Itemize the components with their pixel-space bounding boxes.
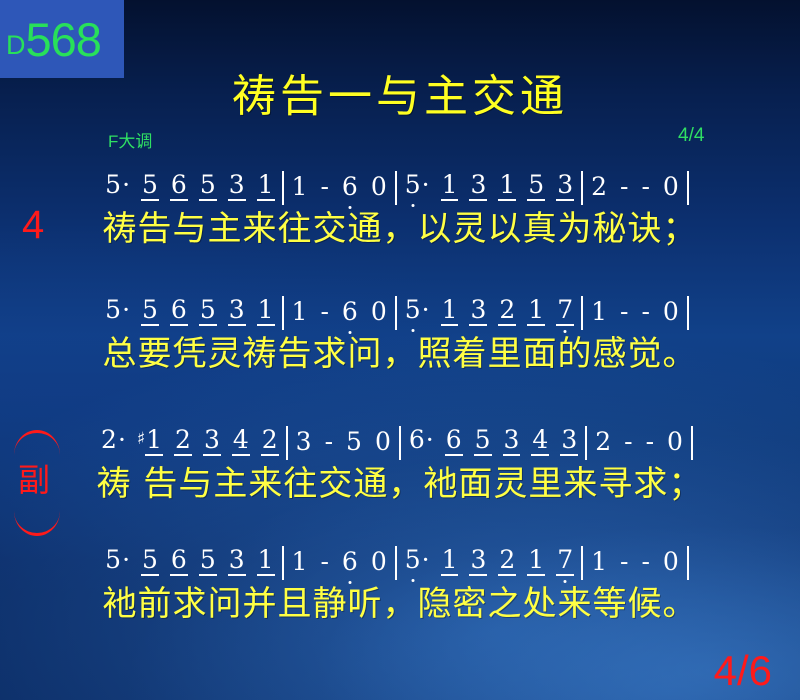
note-glyph: 5	[404, 295, 422, 324]
measure-1: 5·56531	[104, 170, 274, 201]
note-glyph: 3	[228, 545, 246, 576]
note-glyph: 3	[228, 295, 246, 326]
barline	[581, 296, 583, 330]
note: 7	[556, 295, 574, 324]
measure-2: 3-50	[295, 427, 392, 456]
note-glyph: 5	[141, 545, 159, 576]
note-glyph: 0	[370, 547, 388, 576]
barline	[399, 426, 401, 460]
note: 3	[469, 545, 487, 574]
note: 3	[469, 295, 487, 324]
note-glyph: 1	[590, 297, 608, 326]
note-glyph: 6	[408, 425, 426, 454]
note: 1	[441, 170, 459, 199]
note-glyph: 5	[199, 545, 217, 576]
note-glyph: 5	[345, 427, 363, 456]
note: 6	[341, 172, 359, 201]
measure-1: 5·56531	[104, 295, 274, 326]
hymn-code-number: 568	[26, 16, 101, 63]
note-glyph: 1	[527, 545, 545, 576]
note: 2	[594, 427, 612, 456]
note-glyph: 7	[556, 295, 574, 326]
note: 4	[232, 425, 250, 454]
note: 2·	[100, 425, 126, 454]
note: 1	[590, 297, 608, 326]
note: 5	[345, 427, 363, 456]
measure-3: 6·65343	[408, 425, 578, 456]
note-glyph: 6	[170, 295, 188, 326]
note-glyph: 4	[232, 425, 250, 456]
note: 0	[370, 172, 388, 201]
note: 5·	[104, 545, 130, 574]
note: 3	[469, 170, 487, 199]
note-glyph: 2	[594, 427, 612, 456]
note-glyph: 2	[174, 425, 192, 456]
note-glyph: 5	[404, 170, 422, 199]
augmentation-dot: ·	[422, 170, 430, 199]
sharp-accidental-icon: ♯	[137, 429, 145, 449]
lyrics-phrase-left: 祷 告与主来往交通，	[97, 456, 424, 505]
note: 0	[662, 547, 680, 576]
augmentation-dot: ·	[122, 295, 130, 324]
measure-3: 5·13217	[404, 295, 574, 326]
barline	[687, 171, 689, 205]
key-signature-label: F大调	[108, 127, 152, 152]
note-glyph: -	[640, 547, 650, 576]
note-glyph: 2	[100, 425, 118, 454]
note-glyph: 3	[503, 425, 521, 456]
note-glyph: 2	[498, 545, 516, 576]
note: 6	[170, 295, 188, 324]
note: 1	[291, 297, 309, 326]
barline	[282, 171, 284, 205]
note: 3	[228, 295, 246, 324]
note-glyph: 1	[498, 170, 516, 201]
note: 5	[199, 295, 217, 324]
note-glyph: 1	[291, 547, 309, 576]
note-glyph: -	[619, 172, 629, 201]
note: -	[640, 547, 650, 576]
barline	[282, 296, 284, 330]
note-glyph: 3	[560, 425, 578, 456]
note-glyph: 0	[666, 427, 684, 456]
note: -	[324, 427, 334, 456]
note: 5·	[404, 170, 430, 199]
note: -	[619, 172, 629, 201]
note-glyph: 1	[257, 295, 275, 326]
note-glyph: 1	[291, 172, 309, 201]
note-glyph: 3	[228, 170, 246, 201]
note: 1	[441, 295, 459, 324]
note-glyph: 1	[291, 297, 309, 326]
note: 5	[474, 425, 492, 454]
note-glyph: 4	[531, 425, 549, 456]
note-glyph: 6	[170, 170, 188, 201]
verse-number-label: 4	[22, 205, 44, 245]
barline	[687, 546, 689, 580]
note-glyph: 6	[170, 545, 188, 576]
stanza-block-1: 45·565311-605·131532--0祷告与主来往交通，以灵以真为秘诀；	[0, 165, 800, 249]
measure-3: 5·13153	[404, 170, 574, 201]
note: 2	[261, 425, 279, 454]
note: 3	[203, 425, 221, 454]
note-glyph: 5	[141, 295, 159, 326]
measure-4: 1--0	[590, 297, 680, 326]
note-glyph: 0	[374, 427, 392, 456]
note: 4	[531, 425, 549, 454]
measure-1: 5·56531	[104, 545, 274, 576]
note: 0	[370, 547, 388, 576]
lyrics-row: 衪前求问并且静听，隐密之处来等候。	[0, 576, 800, 624]
notation-row: 2·♯123423-506·653432--0	[0, 420, 800, 456]
note: 3	[295, 427, 313, 456]
note: 7	[556, 545, 574, 574]
augmentation-dot: ·	[426, 425, 434, 454]
note-glyph: 5	[104, 545, 122, 574]
note-glyph: 0	[662, 172, 680, 201]
measure-4: 2--0	[594, 427, 684, 456]
note: 3	[228, 170, 246, 199]
note: 6	[445, 425, 463, 454]
chorus-label: 副	[18, 464, 50, 496]
chorus-marker: 副	[12, 428, 66, 536]
note: 0	[662, 297, 680, 326]
stanza-block-3: 副2·♯123423-506·653432--0祷 告与主来往交通，衪面灵里来寻…	[0, 420, 800, 504]
barline	[395, 546, 397, 580]
lyrics-row: 总要凭灵祷告求问，照着里面的感觉。	[0, 326, 800, 374]
note: 5·	[404, 295, 430, 324]
lyrics-row: 祷 告与主来往交通，衪面灵里来寻求；	[0, 456, 800, 504]
note-glyph: -	[640, 172, 650, 201]
note-glyph: 5	[527, 170, 545, 201]
note-glyph: 2	[498, 295, 516, 326]
lyrics-phrase-left: 衪前求问并且静听，	[103, 576, 418, 625]
note: 1	[527, 295, 545, 324]
barline	[395, 171, 397, 205]
note: ♯1	[137, 425, 163, 454]
note-glyph: 5	[104, 170, 122, 199]
note: 2	[498, 545, 516, 574]
note-glyph: 1	[441, 295, 459, 326]
note-glyph: 6	[341, 172, 359, 201]
note: 6	[341, 297, 359, 326]
measure-2: 1-60	[291, 547, 388, 576]
note: 0	[666, 427, 684, 456]
barline	[282, 546, 284, 580]
note: 3	[228, 545, 246, 574]
note-glyph: 1	[527, 295, 545, 326]
note: 0	[370, 297, 388, 326]
note: -	[623, 427, 633, 456]
note: 3	[503, 425, 521, 454]
note: 1	[527, 545, 545, 574]
note: 1	[257, 170, 275, 199]
note-glyph: 1	[590, 547, 608, 576]
lyrics-phrase-right: 隐密之处来等候。	[418, 576, 698, 625]
lyrics-row: 祷告与主来往交通，以灵以真为秘诀；	[0, 201, 800, 249]
note: -	[319, 297, 329, 326]
note-glyph: -	[319, 172, 329, 201]
note: -	[640, 172, 650, 201]
hymn-code-prefix: D	[6, 32, 26, 59]
note: 5·	[104, 170, 130, 199]
note-glyph: 6	[445, 425, 463, 456]
note-glyph: 1	[441, 545, 459, 576]
page-indicator: 4/6	[714, 650, 772, 692]
note: 5	[141, 170, 159, 199]
note: 6	[170, 170, 188, 199]
note-glyph: 3	[469, 170, 487, 201]
time-signature-label: 4/4	[678, 125, 704, 147]
note-glyph: -	[619, 297, 629, 326]
note-glyph: 0	[662, 297, 680, 326]
stanza-block-2: 5·565311-605·132171--0总要凭灵祷告求问，照着里面的感觉。	[0, 290, 800, 374]
augmentation-dot: ·	[118, 425, 126, 454]
notation-row: 5·565311-605·132171--0	[0, 290, 800, 326]
measure-2: 1-60	[291, 297, 388, 326]
measure-3: 5·13217	[404, 545, 574, 576]
note-glyph: 1	[257, 170, 275, 201]
augmentation-dot: ·	[422, 545, 430, 574]
note-glyph: 5	[104, 295, 122, 324]
note: 5	[527, 170, 545, 199]
lyrics-phrase-right: 以灵以真为秘诀；	[418, 201, 698, 250]
measure-1: 2·♯12342	[100, 425, 279, 456]
note: 5	[199, 545, 217, 574]
note-glyph: -	[324, 427, 334, 456]
note-glyph: 3	[556, 170, 574, 201]
note: 5	[141, 545, 159, 574]
chorus-bracket-bottom-arc	[14, 511, 60, 536]
note-glyph: 3	[469, 295, 487, 326]
barline	[691, 426, 693, 460]
note-glyph: 3	[295, 427, 313, 456]
note: -	[619, 297, 629, 326]
note: 1	[257, 295, 275, 324]
note-glyph: 6	[341, 297, 359, 326]
lyrics-phrase-right: 照着里面的感觉。	[418, 326, 698, 375]
barline	[585, 426, 587, 460]
augmentation-dot: ·	[122, 170, 130, 199]
note: 1	[498, 170, 516, 199]
lyrics-phrase-right: 衪面灵里来寻求；	[423, 456, 703, 505]
augmentation-dot: ·	[422, 295, 430, 324]
note: 0	[662, 172, 680, 201]
chorus-bracket-top-arc	[14, 430, 60, 455]
note: 5	[199, 170, 217, 199]
barline	[581, 546, 583, 580]
note-glyph: 5	[404, 545, 422, 574]
slide-canvas: D568 祷告一与主交通 F大调 4/4 45·565311-605·13153…	[0, 0, 800, 700]
note: -	[640, 297, 650, 326]
note-glyph: -	[319, 297, 329, 326]
barline	[581, 171, 583, 205]
note-glyph: 2	[590, 172, 608, 201]
note: 3	[556, 170, 574, 199]
note: -	[619, 547, 629, 576]
note-glyph: 5	[199, 295, 217, 326]
note-glyph: -	[619, 547, 629, 576]
note: -	[319, 172, 329, 201]
note: 2	[174, 425, 192, 454]
note-glyph: -	[640, 297, 650, 326]
page-title: 祷告一与主交通	[0, 60, 800, 124]
note: 6	[341, 547, 359, 576]
note-glyph: -	[319, 547, 329, 576]
note: 0	[374, 427, 392, 456]
note-glyph: 7	[556, 545, 574, 576]
note-glyph: 3	[469, 545, 487, 576]
note-glyph: 3	[203, 425, 221, 456]
note: 1	[590, 547, 608, 576]
note-glyph: -	[645, 427, 655, 456]
note: 1	[291, 547, 309, 576]
note-glyph: 1	[257, 545, 275, 576]
note: 6	[170, 545, 188, 574]
note: -	[645, 427, 655, 456]
note-glyph: 5	[199, 170, 217, 201]
note-glyph: 6	[341, 547, 359, 576]
note: 1	[257, 545, 275, 574]
note: 3	[560, 425, 578, 454]
note-glyph: 0	[370, 297, 388, 326]
note-glyph: 0	[662, 547, 680, 576]
note: 1	[441, 545, 459, 574]
note: 1	[291, 172, 309, 201]
measure-4: 1--0	[590, 547, 680, 576]
lyrics-phrase-left: 总要凭灵祷告求问，	[103, 326, 418, 375]
note-glyph: 5	[474, 425, 492, 456]
note: 5	[141, 295, 159, 324]
measure-2: 1-60	[291, 172, 388, 201]
barline	[395, 296, 397, 330]
note: 5·	[404, 545, 430, 574]
notation-row: 5·565311-605·131532--0	[0, 165, 800, 201]
note-glyph: 2	[261, 425, 279, 456]
note: 6·	[408, 425, 434, 454]
stanza-block-4: 5·565311-605·132171--0衪前求问并且静听，隐密之处来等候。	[0, 540, 800, 624]
notation-row: 5·565311-605·132171--0	[0, 540, 800, 576]
augmentation-dot: ·	[122, 545, 130, 574]
note: 2	[498, 295, 516, 324]
note-glyph: 1	[441, 170, 459, 201]
note-glyph: 5	[141, 170, 159, 201]
barline	[687, 296, 689, 330]
note: 2	[590, 172, 608, 201]
note-glyph: -	[623, 427, 633, 456]
note-glyph: 0	[370, 172, 388, 201]
note: -	[319, 547, 329, 576]
barline	[286, 426, 288, 460]
lyrics-phrase-left: 祷告与主来往交通，	[103, 201, 418, 250]
note: 5·	[104, 295, 130, 324]
note-glyph: 1	[145, 425, 163, 456]
measure-4: 2--0	[590, 172, 680, 201]
